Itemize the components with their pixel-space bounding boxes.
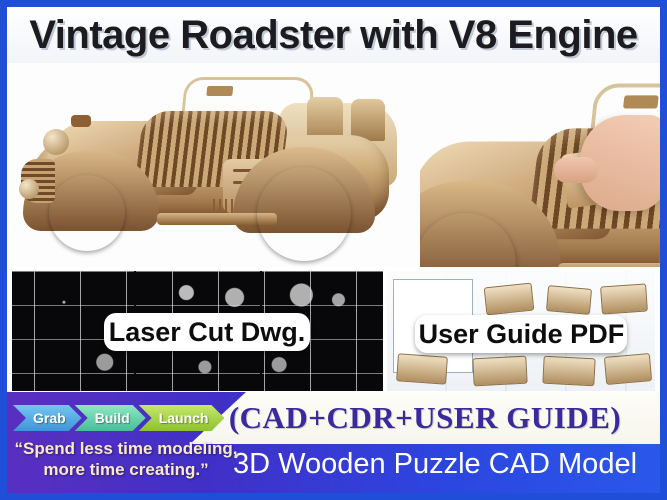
assembly-hand-photo	[420, 63, 660, 267]
laser-cut-label: Laser Cut Dwg.	[104, 313, 310, 351]
assembled-roadster-photo	[7, 63, 420, 267]
step-launch[interactable]: Launch	[139, 405, 225, 431]
assembly-step-figure	[546, 285, 592, 315]
step-grab-label: Grab	[33, 410, 66, 426]
laser-cut-preview[interactable]: Laser Cut Dwg.	[12, 271, 383, 391]
user-guide-label: User Guide PDF	[415, 315, 627, 353]
front-wheel	[49, 175, 125, 251]
quote-line-1: “Spend less time modeling,	[15, 439, 238, 458]
photo-row	[7, 63, 660, 267]
assembly-step-figure	[484, 283, 535, 316]
product-poster: Vintage Roadster with V8 Engine	[0, 0, 667, 500]
steps-row: Grab Build Launch	[13, 405, 217, 431]
laser-cut-label-text: Laser Cut Dwg.	[109, 317, 306, 348]
page-title: Vintage Roadster with V8 Engine	[29, 13, 637, 58]
quote-line-2: more time creating.”	[7, 459, 245, 480]
assembly-step-figure	[397, 353, 449, 384]
hand	[580, 115, 660, 211]
assembly-step-figure	[543, 356, 596, 387]
step-grab[interactable]: Grab	[13, 405, 82, 431]
rear-wheel	[257, 167, 351, 261]
formats-banner-text: (CAD+CDR+USER GUIDE)	[229, 400, 621, 436]
step-launch-label: Launch	[159, 410, 209, 426]
assembly-step-figure	[601, 283, 649, 314]
headlamp	[19, 179, 39, 199]
headlamp	[43, 129, 69, 155]
assembly-step-figure	[473, 356, 528, 387]
title-bar: Vintage Roadster with V8 Engine	[7, 7, 660, 63]
footer-band: (CAD+CDR+USER GUIDE) 3D Wooden Puzzle CA…	[7, 392, 660, 493]
step-build-label: Build	[95, 410, 130, 426]
preview-panels: Laser Cut Dwg. User Guide PDF	[7, 267, 660, 392]
product-tagline: 3D Wooden Puzzle CAD Model	[220, 448, 650, 481]
user-guide-preview[interactable]: User Guide PDF	[387, 271, 655, 391]
user-guide-label-text: User Guide PDF	[419, 319, 625, 350]
assembly-step-figure	[604, 353, 652, 385]
marketing-quote: “Spend less time modeling, more time cre…	[7, 438, 245, 480]
formats-banner: (CAD+CDR+USER GUIDE)	[190, 392, 660, 444]
mirror-part	[71, 115, 91, 127]
step-build[interactable]: Build	[75, 405, 146, 431]
